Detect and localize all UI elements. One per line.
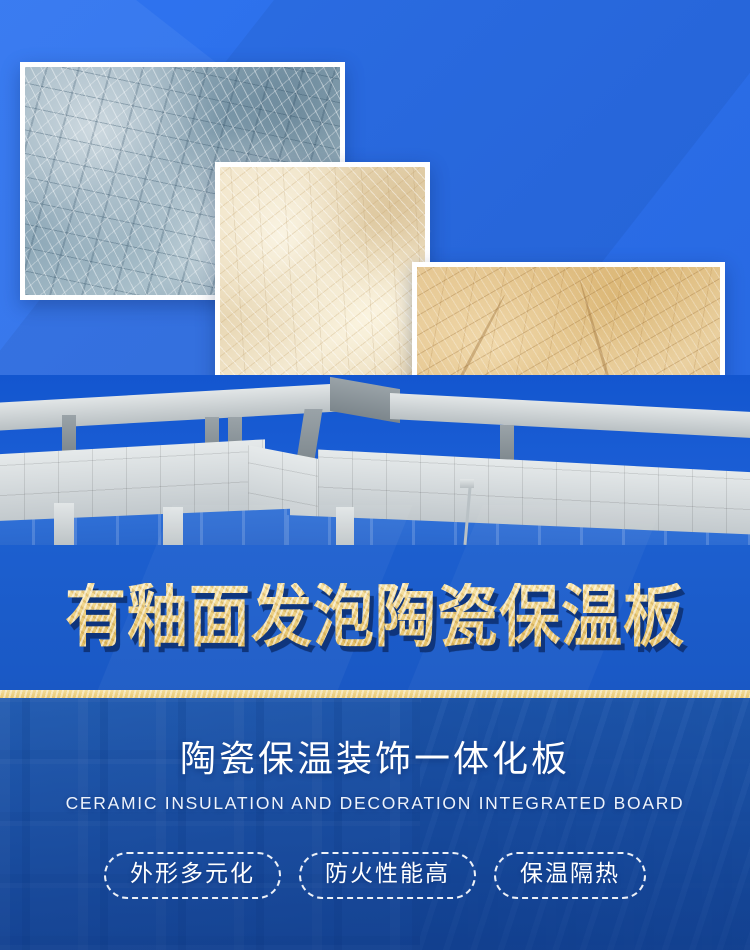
subtitle-english: CERAMIC INSULATION AND DECORATION INTEGR… [0, 795, 750, 813]
pilaster [54, 503, 74, 549]
tile-texture-cream [220, 167, 425, 395]
subtitle-chinese: 陶瓷保温装饰一体化板 [0, 742, 750, 778]
feature-badge-shape-variety[interactable]: 外形多元化 [104, 852, 281, 899]
blue-tint-overlay [0, 698, 750, 950]
gold-divider [0, 690, 750, 698]
light-fixture [460, 479, 474, 488]
product-banner: 有釉面发泡陶瓷保温板 陶瓷保温装饰一体化板 CERAMIC INSULATION… [0, 0, 750, 950]
feature-badge-thermal-insulation[interactable]: 保温隔热 [494, 852, 646, 899]
feature-badge-fire-resistance[interactable]: 防火性能高 [299, 852, 476, 899]
feature-badge-list: 外形多元化 防火性能高 保温隔热 [0, 852, 750, 899]
sample-tile-cream-marble [215, 162, 430, 400]
building-photo-bottom [0, 698, 750, 950]
page-title: 有釉面发泡陶瓷保温板 [0, 583, 750, 651]
